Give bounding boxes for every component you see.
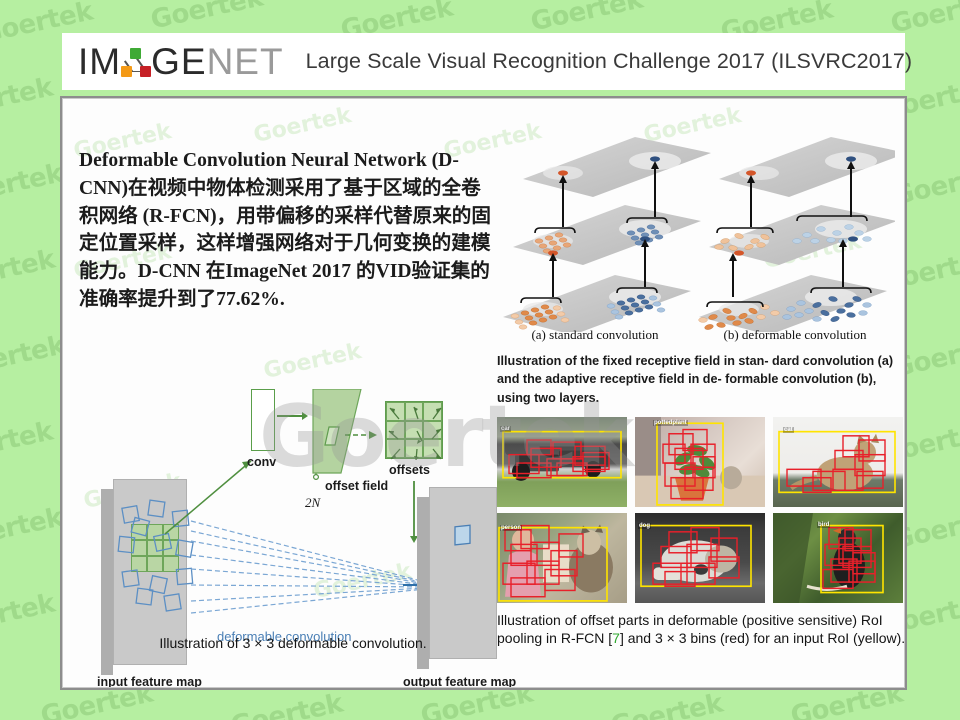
imagenet-logo: IM GE NET [78,43,284,80]
receptive-field-illustration [495,117,895,332]
inner-watermark-tile: Goertek [261,339,363,384]
photo-bird: bird [773,513,903,603]
panel-deformable-convolution [699,137,895,332]
watermark-tile: Goertek [0,159,65,212]
caption-deformable-convolution: (b) deformable convolution [695,327,895,343]
roi-pooling-caption: Illustration of offset parts in deformab… [497,611,905,648]
photo-label: pottedplant [653,420,688,426]
offset-cell [405,421,424,440]
watermark-tile: Goertek [0,73,55,126]
photo-label: dog [638,523,651,529]
offset-cell [386,439,405,458]
receptive-field-description: Illustration of the fixed receptive fiel… [497,352,905,407]
regular-grid-cell [163,524,179,540]
conv-box [251,389,275,451]
watermark-tile: Goertek [0,417,55,470]
roi-pooling-photo-grid: car pottedplant [497,417,903,603]
conv-label: conv [247,455,276,469]
offset-cell [405,402,424,421]
watermark-tile: Goertek [0,331,67,384]
watermark-tile: Goertek [228,689,345,720]
photo-car-overlay [497,417,627,507]
watermark-tile: Goertek [608,689,725,720]
photo-cat: cat [773,417,903,507]
regular-grid-cell [163,540,179,556]
offset-field-label: offset field [325,479,388,493]
regular-grid-cell [147,556,163,572]
regular-grid-cell [131,524,147,540]
receptive-field-captions: (a) standard convolution (b) deformable … [495,327,895,343]
roi-caption-citation: 7 [612,630,620,646]
logo-node-graph-icon [121,47,151,77]
offset-cell [423,421,442,440]
photo-pottedplant: pottedplant [635,417,765,507]
watermark-tile: Goertek [148,0,265,35]
offsets-label: offsets [389,463,430,477]
logo-text-net: NET [207,43,284,80]
logo-text-ge: GE [151,43,206,80]
offset-cell [386,402,405,421]
two-n-label: 2N [305,495,320,511]
offset-cell [386,421,405,440]
roi-caption-part2: ] and 3 × 3 bins (red) for an input RoI … [620,630,905,646]
photo-label: cat [783,427,794,433]
page-title: Large Scale Visual Recognition Challenge… [306,49,913,74]
watermark-tile: Goertek [0,503,65,556]
caption-standard-convolution: (a) standard convolution [495,327,695,343]
photo-label: car [500,426,511,432]
regular-grid-cell [131,556,147,572]
logo-text-im: IM [78,43,121,80]
logo-node-green-icon [130,48,141,59]
conv-to-offsetfield-arrow [277,415,303,417]
photo-label: bird [817,522,830,528]
photo-bird-overlay [773,513,903,603]
offset-cell [405,439,424,458]
regular-grid-cell [163,556,179,572]
offset-cell [423,439,442,458]
photo-person: person [497,513,627,603]
slide-header: IM GE NET Large Scale Visual Recognition… [62,33,905,90]
content-frame: Goertek Goertek Goertek Goertek Goertek … [62,98,905,688]
logo-node-red-icon [140,66,151,77]
regular-grid-cell [147,524,163,540]
panel-standard-convolution [503,137,711,332]
offsets-grid [385,401,443,459]
photo-pottedplant-overlay [635,417,765,507]
left-figure-caption: Illustration of 3 × 3 deformable convolu… [93,635,493,651]
conv-to-offsetfield-arrowhead-icon [302,412,308,420]
photo-car: car [497,417,627,507]
regular-grid-cell [147,540,163,556]
watermark-tile: Goertek [0,245,57,298]
summary-paragraph: Deformable Convolution Neural Network (D… [79,147,499,314]
receptive-field-svg [495,117,895,332]
photo-dog-overlay [635,513,765,603]
watermark-tile: Goertek [528,0,645,37]
watermark-tile: Goertek [0,589,57,642]
photo-label: person [500,525,522,531]
output-feature-map-label: output feature map [403,675,516,688]
photo-dog: dog [635,513,765,603]
output-feature-map-slab [429,487,497,659]
input-feature-map-label: input feature map [97,675,202,688]
inner-watermark-tile: Goertek [251,103,353,148]
regular-grid-cell [131,540,147,556]
offset-cell [423,402,442,421]
logo-node-orange-icon [121,66,132,77]
